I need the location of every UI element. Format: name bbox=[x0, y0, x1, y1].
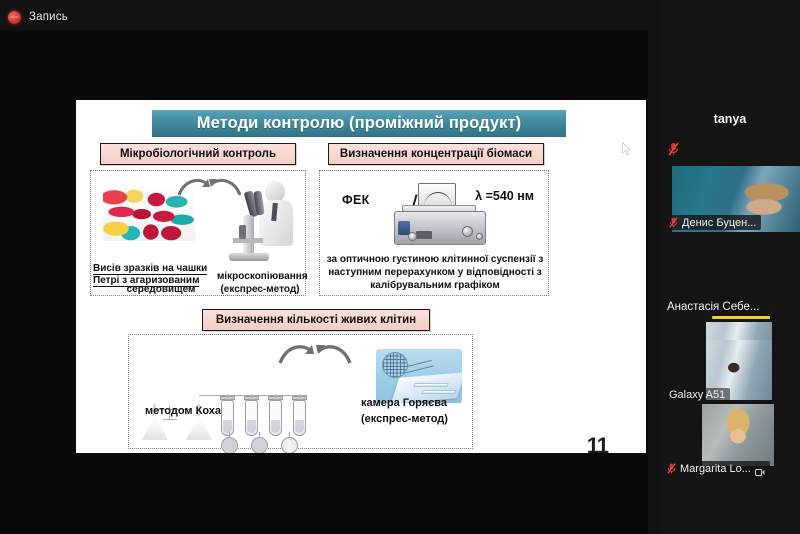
participant-tile-denis[interactable]: Денис Буцен... bbox=[660, 166, 800, 232]
caption-goryaev-2: (експрес-метод) bbox=[361, 413, 465, 426]
participant-namebar-galaxy-a51: Galaxy A51 bbox=[666, 388, 730, 402]
connector-line bbox=[289, 432, 290, 438]
participant-name-tanya: tanya bbox=[660, 104, 800, 126]
panel-viable-cell-count: методом Коха камера Горяєва (експрес-мет… bbox=[128, 334, 473, 449]
petri-dish-small bbox=[251, 437, 268, 453]
connector-line bbox=[275, 394, 276, 398]
petri-dish-small bbox=[221, 437, 238, 453]
panel-microbiological-control: Висів зразків на чашки Петрі з агаризова… bbox=[90, 170, 306, 296]
section-label-microbiological-control: Мікробіологічний контроль bbox=[100, 143, 296, 165]
test-tube bbox=[245, 400, 258, 436]
device-cuvette-slot bbox=[416, 231, 432, 239]
caption-goryaev-1: камера Горяєва bbox=[361, 397, 465, 410]
video-on-icon bbox=[755, 464, 765, 473]
dilution-series-diagram bbox=[141, 368, 331, 440]
connector-line bbox=[227, 394, 228, 398]
curved-arrow-icon bbox=[315, 341, 353, 367]
connector-line bbox=[199, 395, 307, 396]
caption-microscopy-1: мікроскопіювання bbox=[217, 271, 303, 283]
microscope-base bbox=[229, 253, 269, 261]
goryaev-counting-chamber-image bbox=[376, 349, 462, 403]
participant-namebar-anastasia: Анастасія Себе... bbox=[664, 300, 764, 314]
caption-koch-method: методом Коха bbox=[135, 405, 231, 418]
chamber-ridge bbox=[421, 390, 457, 394]
participant-namebar-margarita: Margarita Lo... bbox=[664, 461, 770, 476]
mic-muted-icon bbox=[668, 142, 677, 155]
photoelectric-colorimeter-image bbox=[394, 183, 486, 245]
connector-line bbox=[229, 432, 230, 438]
curved-arrow-icon bbox=[277, 341, 315, 367]
section-label-viable-cell-count: Визначення кількості живих клітин bbox=[202, 309, 430, 331]
shared-screen-stage: Методи контролю (проміжний продукт) Мікр… bbox=[0, 30, 648, 534]
panel-biomass-concentration: ФЕК λ =540 нм за оптичною густиною кліти… bbox=[319, 170, 549, 296]
participant-name-anastasia: Анастасія Себе... bbox=[667, 301, 759, 313]
speaking-indicator-anastasia bbox=[712, 316, 770, 319]
device-knob bbox=[476, 233, 483, 240]
connector-line bbox=[299, 394, 300, 398]
participant-name-galaxy-a51: Galaxy A51 bbox=[669, 389, 725, 401]
test-tube bbox=[293, 400, 306, 436]
participant-tile-galaxy-a51[interactable]: Galaxy A51 bbox=[660, 340, 800, 406]
connector-line bbox=[259, 432, 260, 438]
caption-microscopy-2: (експрес-метод) bbox=[217, 284, 303, 296]
device-knob bbox=[462, 226, 473, 237]
curved-arrow-icon bbox=[177, 175, 211, 199]
label-fek: ФЕК bbox=[342, 193, 370, 207]
microscope-objective bbox=[239, 225, 246, 239]
zoom-meeting-window: Запись Методи контролю (проміжний продук… bbox=[0, 0, 800, 534]
connector-line bbox=[163, 419, 177, 420]
mic-muted-icon bbox=[669, 216, 678, 229]
participant-video-margarita[interactable] bbox=[702, 404, 774, 466]
petri-dish-small bbox=[281, 437, 298, 453]
mouse-pointer-icon bbox=[622, 142, 632, 156]
recording-indicator: Запись bbox=[8, 8, 68, 26]
participant-tile-tanya[interactable]: tanya bbox=[660, 104, 800, 170]
counting-grid-circle bbox=[382, 352, 408, 378]
caption-optical-density: за оптичною густиною клітинної суспензії… bbox=[326, 253, 544, 292]
participant-namebar-denis: Денис Буцен... bbox=[666, 215, 761, 230]
record-dot-icon bbox=[8, 11, 21, 24]
participant-name-margarita: Margarita Lo... bbox=[680, 463, 751, 475]
participant-tile-margarita[interactable]: Margarita Lo... bbox=[660, 404, 800, 476]
connector-line bbox=[251, 394, 252, 398]
mic-muted-icon bbox=[667, 462, 676, 475]
recording-label: Запись bbox=[29, 11, 68, 23]
chamber-hairline bbox=[404, 365, 433, 373]
microscope-stage bbox=[233, 238, 263, 243]
participants-sidebar[interactable]: tanya bbox=[660, 0, 800, 534]
presentation-slide: Методи контролю (проміжний продукт) Мікр… bbox=[76, 100, 646, 453]
chamber-ridge bbox=[413, 383, 449, 387]
section-label-biomass-concentration: Визначення концентрації біомаси bbox=[328, 143, 544, 165]
microscope-person-image bbox=[223, 179, 297, 265]
slide-page-number: 11 bbox=[587, 433, 608, 453]
device-knob bbox=[408, 232, 417, 241]
test-tube bbox=[269, 400, 282, 436]
caption-petri-method-tail: середовищем bbox=[109, 284, 213, 296]
slide-title: Методи контролю (проміжний продукт) bbox=[152, 110, 566, 137]
participant-name-denis: Денис Буцен... bbox=[682, 217, 756, 229]
